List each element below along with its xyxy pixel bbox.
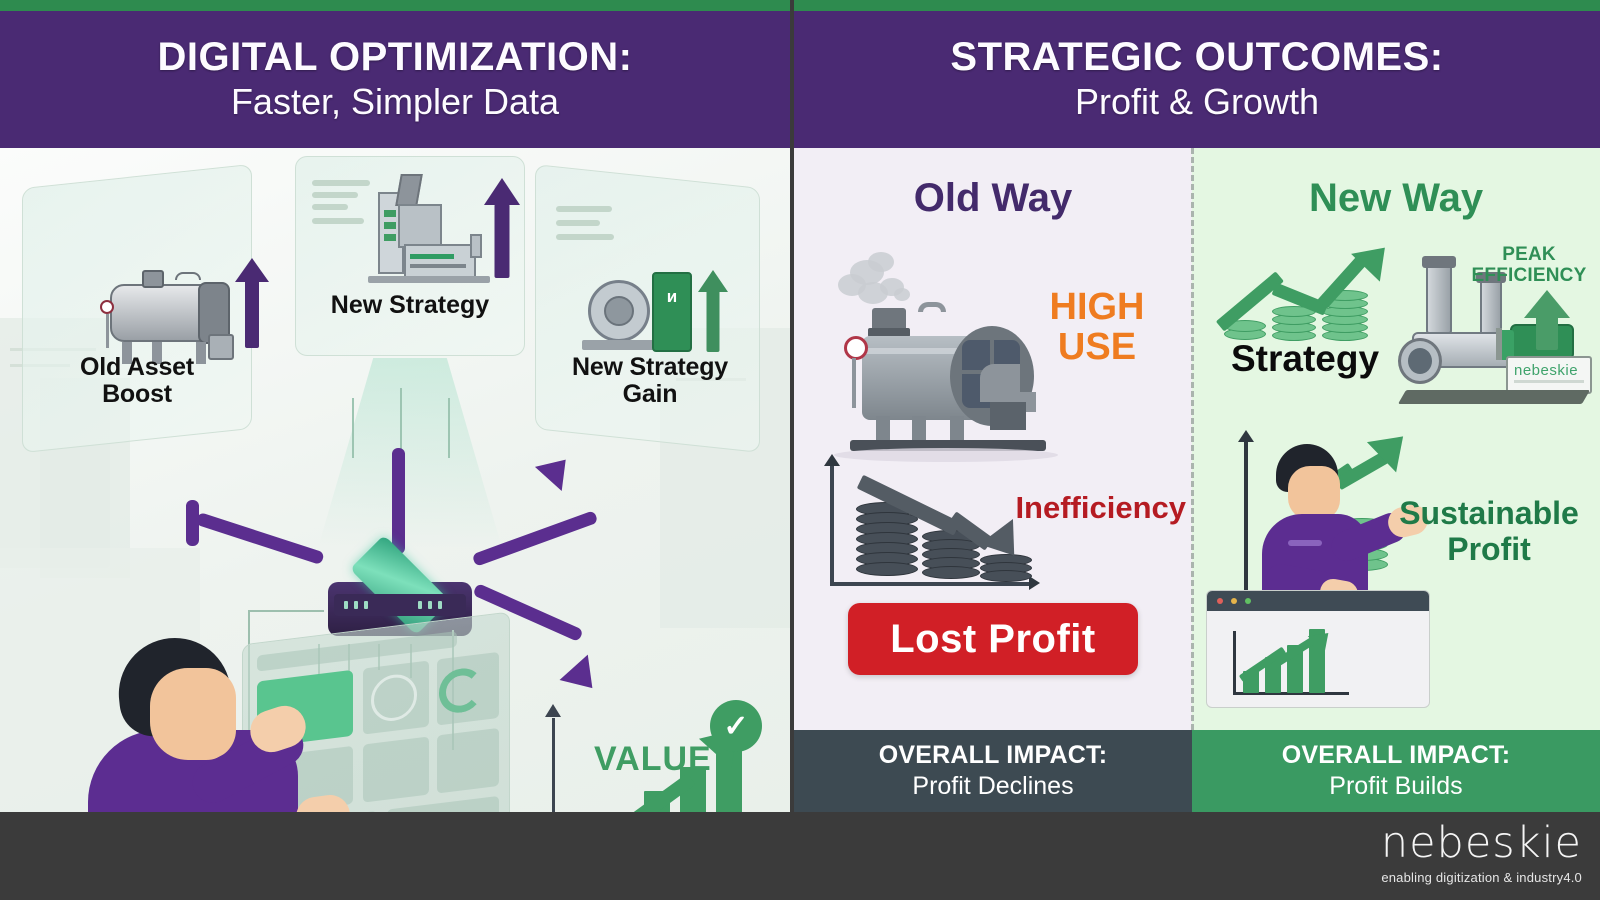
footer-bar: nebeskie enabling digitization & industr… bbox=[0, 812, 1600, 900]
up-arrow-purple bbox=[238, 258, 266, 348]
impact-new-title: OVERALL IMPACT: bbox=[1282, 741, 1510, 770]
lost-profit-badge[interactable]: Lost Profit bbox=[848, 603, 1138, 675]
growth-arrowhead bbox=[1343, 234, 1398, 289]
pipe-left-riser bbox=[186, 500, 199, 546]
browser-close-dot[interactable] bbox=[1217, 598, 1223, 604]
browser-titlebar bbox=[1207, 591, 1429, 611]
placeholder-text-line bbox=[312, 180, 370, 186]
right-header-subtitle: Profit & Growth bbox=[1075, 80, 1319, 123]
y-axis-arrowhead bbox=[822, 454, 842, 468]
machine-brand-label: nebeskie bbox=[1514, 362, 1578, 379]
pipe-left bbox=[195, 512, 325, 565]
inefficiency-label: Inefficiency bbox=[986, 490, 1186, 526]
right-comparison-panel: Old Way bbox=[794, 148, 1600, 730]
browser-maximize-dot[interactable] bbox=[1245, 598, 1251, 604]
top-accent-strip bbox=[0, 0, 1600, 11]
right-header-title: STRATEGIC OUTCOMES: bbox=[950, 36, 1443, 78]
placeholder-text-line bbox=[556, 220, 600, 226]
right-header-banner: STRATEGIC OUTCOMES: Profit & Growth bbox=[794, 11, 1600, 148]
placeholder-text-line bbox=[556, 234, 614, 240]
data-beam bbox=[318, 358, 502, 548]
sustainable-profit-label: Sustainable Profit bbox=[1374, 496, 1600, 568]
up-arrow-green bbox=[700, 270, 726, 352]
impact-bar-new: OVERALL IMPACT: Profit Builds bbox=[1192, 730, 1600, 812]
left-header-title: DIGITAL OPTIMIZATION: bbox=[158, 36, 633, 78]
new-way-title: New Way bbox=[1192, 176, 1600, 221]
impact-old-value: Profit Declines bbox=[912, 772, 1073, 801]
placeholder-text-line bbox=[312, 192, 358, 198]
placeholder-text-line bbox=[312, 204, 348, 210]
column-divider bbox=[1191, 148, 1194, 730]
impact-bar-old: OVERALL IMPACT: Profit Declines bbox=[794, 730, 1192, 812]
old-way-column: Old Way bbox=[794, 148, 1192, 730]
new-way-column: New Way bbox=[1192, 148, 1600, 730]
label-old-asset-boost: Old Asset Boost bbox=[22, 354, 252, 408]
placeholder-text-line bbox=[556, 206, 612, 212]
strategy-label: Strategy bbox=[1210, 338, 1400, 380]
left-header-banner: DIGITAL OPTIMIZATION: Faster, Simpler Da… bbox=[0, 11, 790, 148]
infographic-canvas: DIGITAL OPTIMIZATION: Faster, Simpler Da… bbox=[0, 0, 1600, 900]
left-illustration-panel: Old Asset Boost New Strategy bbox=[0, 148, 790, 812]
up-arrow-purple bbox=[488, 178, 516, 278]
beam-line bbox=[448, 398, 450, 458]
pipe-right-arrowhead bbox=[525, 450, 577, 503]
y-axis-arrowhead bbox=[543, 704, 563, 720]
beam-line bbox=[352, 398, 354, 458]
pipe-down-arrowhead bbox=[549, 643, 605, 700]
mini-trend-arrowhead bbox=[1301, 624, 1336, 659]
impact-new-value: Profit Builds bbox=[1329, 772, 1462, 801]
browser-minimize-dot[interactable] bbox=[1231, 598, 1237, 604]
analytics-browser-window[interactable] bbox=[1206, 590, 1430, 708]
check-circle-icon: ✓ bbox=[710, 700, 762, 752]
label-new-strategy: New Strategy bbox=[295, 291, 525, 320]
connector-line bbox=[248, 610, 324, 612]
y-axis-arrowhead bbox=[1236, 430, 1256, 444]
logo-wordmark: nebeskie bbox=[1381, 822, 1582, 865]
left-header-subtitle: Faster, Simpler Data bbox=[231, 80, 559, 123]
peak-efficiency-arrow bbox=[1524, 290, 1570, 348]
value-label: VALUE bbox=[594, 740, 712, 779]
chart-y-axis bbox=[1233, 631, 1236, 695]
label-new-strategy-gain: New Strategy Gain bbox=[530, 354, 770, 408]
old-way-title: Old Way bbox=[794, 176, 1192, 221]
chart-y-axis bbox=[552, 718, 555, 812]
peak-efficiency-label: PEAK EFFICIENCY bbox=[1454, 244, 1600, 287]
brand-logo: nebeskie enabling digitization & industr… bbox=[1381, 822, 1582, 885]
impact-old-title: OVERALL IMPACT: bbox=[879, 741, 1107, 770]
placeholder-text-line bbox=[312, 218, 364, 224]
pipe-center bbox=[392, 448, 405, 554]
logo-tagline: enabling digitization & industry4.0 bbox=[1381, 870, 1582, 885]
high-use-label: HIGH USE bbox=[1022, 288, 1172, 368]
